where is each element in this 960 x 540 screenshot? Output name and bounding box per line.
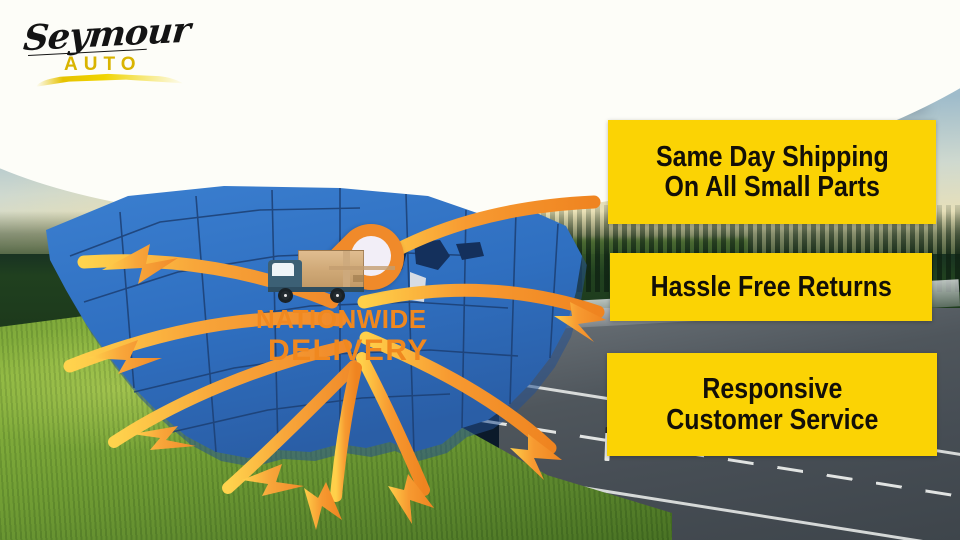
brand-name: Seymour	[22, 10, 192, 60]
delivery-label: DELIVERY	[268, 336, 429, 366]
claim-panel-service[interactable]: Responsive Customer Service	[607, 353, 937, 456]
nationwide-label: NATIONWIDE	[256, 306, 429, 332]
truck-window	[272, 263, 294, 276]
claim-panel-returns[interactable]: Hassle Free Returns	[610, 253, 932, 321]
claim-line-1: Same Day Shipping	[656, 142, 889, 172]
truck-wheel	[278, 288, 293, 303]
claim-line-1: Responsive	[702, 374, 842, 404]
brand-logo[interactable]: Seymour AUTO	[18, 8, 198, 94]
box-tape	[343, 251, 350, 289]
claim-panel-shipping[interactable]: Same Day Shipping On All Small Parts	[608, 120, 936, 224]
claim-line-1: Hassle Free Returns	[650, 272, 891, 302]
truck-wheel	[330, 288, 345, 303]
promo-banner: Seymour AUTO	[0, 0, 960, 540]
box-tape	[329, 266, 395, 270]
box-label	[353, 275, 363, 282]
nationwide-delivery-heading: NATIONWIDE DELIVERY	[256, 306, 429, 366]
delivery-truck-icon	[268, 250, 364, 308]
truck-cargo-box	[298, 250, 364, 288]
logo-swoosh-icon	[36, 72, 186, 88]
claim-line-2: Customer Service	[666, 405, 878, 435]
brand-subtitle: AUTO	[64, 54, 141, 76]
claim-line-2: On All Small Parts	[664, 172, 879, 202]
